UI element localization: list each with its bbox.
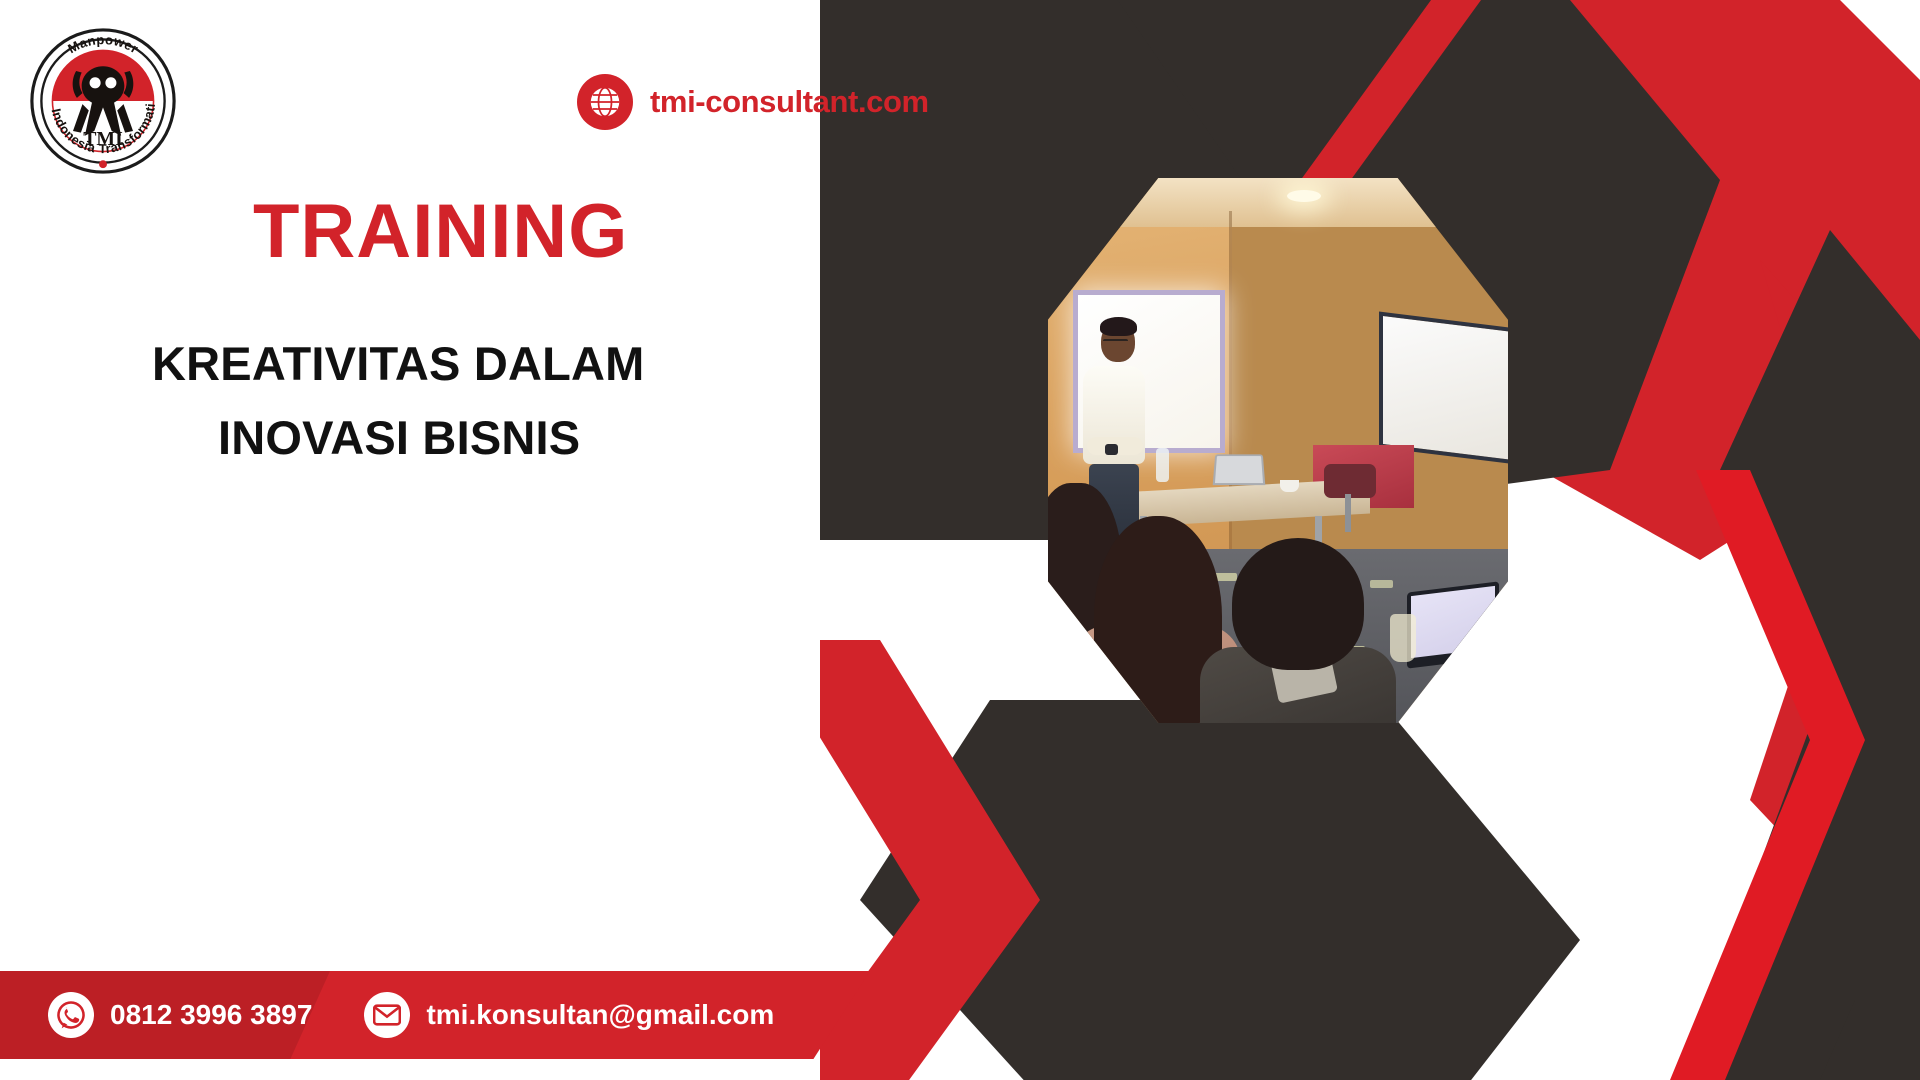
page-title-line1: KREATIVITAS DALAM — [152, 336, 645, 391]
website-url[interactable]: tmi-consultant.com — [650, 84, 929, 120]
contact-phone[interactable]: 0812 3996 3897 — [48, 992, 312, 1038]
envelope-icon-svg — [373, 1001, 401, 1029]
envelope-icon — [364, 992, 410, 1038]
training-photo — [1048, 178, 1508, 723]
website-badge[interactable]: tmi-consultant.com — [577, 74, 929, 130]
attendee-man — [1232, 538, 1364, 670]
contact-phone-number[interactable]: 0812 3996 3897 — [110, 999, 312, 1031]
contact-email-address[interactable]: tmi.konsultan@gmail.com — [426, 999, 774, 1031]
presenter-laptop — [1212, 455, 1265, 486]
whatsapp-icon — [48, 992, 94, 1038]
page-title-line2: INOVASI BISNIS — [218, 410, 580, 465]
contact-email[interactable]: tmi.konsultan@gmail.com — [364, 992, 774, 1038]
projector-screen-right — [1379, 311, 1508, 464]
globe-icon-svg — [586, 83, 624, 121]
meeting-room-scene — [1048, 178, 1508, 723]
page-title-eyebrow: TRAINING — [253, 188, 628, 275]
tmi-logo-svg: TMI Manpower Indonesia Transformation — [24, 22, 182, 180]
globe-icon — [577, 74, 633, 130]
tmi-logo: TMI Manpower Indonesia Transformation — [24, 22, 182, 180]
chair — [1324, 464, 1376, 498]
contact-bar: 0812 3996 3897 tmi.konsultan@gmail.com — [0, 971, 870, 1059]
whatsapp-icon-svg — [54, 998, 88, 1032]
